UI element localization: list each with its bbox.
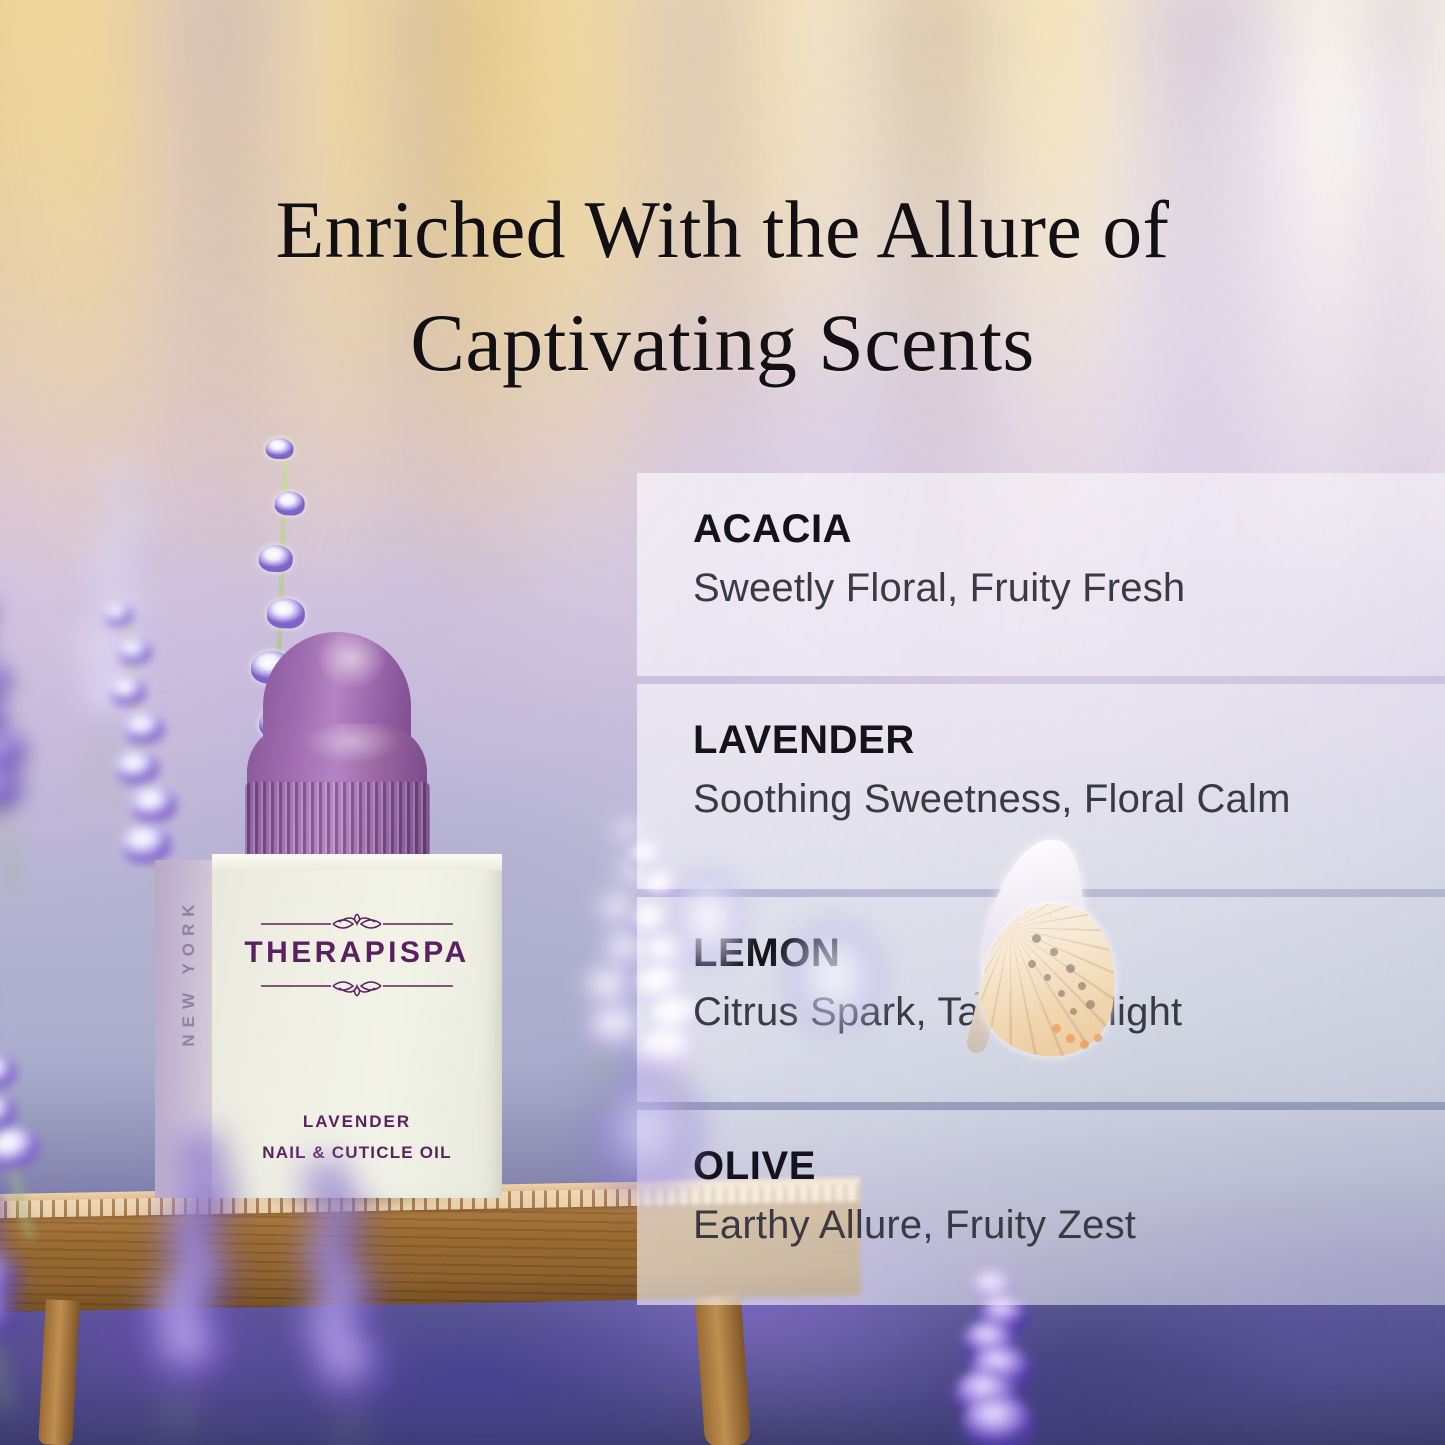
lavender-blossom <box>117 637 153 667</box>
butterfly-wing-spot <box>1050 948 1058 956</box>
scent-card-acacia: ACACIA Sweetly Floral, Fruity Fresh <box>637 473 1445 676</box>
lavender-blossom <box>114 748 161 787</box>
butterfly-wing-spot <box>1052 1024 1061 1033</box>
foreground-blossom-3 <box>560 1040 730 1240</box>
page-title: Enriched With the Allure of Captivating … <box>0 173 1445 399</box>
lavender-blossom <box>0 763 23 813</box>
scent-card-olive: OLIVE Earthy Allure, Fruity Zest <box>637 1110 1445 1305</box>
foreground-blossom-1 <box>648 858 768 1008</box>
headline-line-2: Captivating Scents <box>0 286 1445 399</box>
butterfly-wing-spot <box>1094 1034 1102 1042</box>
bottle-variant-name: LAVENDER <box>303 1112 411 1132</box>
scent-name: ACACIA <box>693 509 1445 549</box>
lavender-blossom <box>102 469 142 501</box>
lavender-blossom <box>0 1050 20 1094</box>
butterfly-wing-spot <box>1066 964 1075 973</box>
lavender-blossom <box>108 675 148 708</box>
butterfly-wing-spot <box>1070 1008 1077 1015</box>
product-bottle: NEW YORK THERAPISPA <box>155 632 530 1197</box>
lavender-blossom <box>0 1122 43 1174</box>
scent-name: OLIVE <box>693 1146 1445 1186</box>
butterfly-wing-spot <box>1058 990 1065 997</box>
butterfly-icon <box>966 838 1162 1074</box>
lavender-blossom <box>266 438 294 460</box>
dropper-cap-ribs <box>245 782 430 864</box>
bottle-brand-name: THERAPISPA <box>244 938 469 968</box>
butterfly-wing-spot <box>1044 974 1051 981</box>
lavender-sprig-icon <box>280 1157 400 1445</box>
product-lifestyle-image: NEW YORK THERAPISPA <box>0 0 1445 1445</box>
headline-line-1: Enriched With the Allure of <box>22 173 1424 286</box>
ornament-flourish-top <box>257 910 457 936</box>
butterfly-wing-spot <box>1078 982 1086 990</box>
lavender-blossom <box>302 1160 348 1197</box>
lavender-blossom <box>274 491 306 516</box>
butterfly-wing-spot <box>1032 934 1041 943</box>
foreground-blossom-2 <box>760 900 910 1070</box>
lavender-blossom <box>0 661 12 701</box>
butterfly-wing-spot <box>1028 960 1036 968</box>
butterfly-wing-spot <box>1086 1000 1095 1009</box>
bottle-origin-text: NEW YORK <box>179 872 199 1072</box>
lavender-blossom <box>258 544 294 572</box>
scent-description: Soothing Sweetness, Floral Calm <box>693 778 1445 821</box>
scent-name: LAVENDER <box>693 720 1445 760</box>
lavender-blossom <box>314 1194 366 1236</box>
ornament-flourish-bottom <box>257 976 457 1002</box>
lavender-blossom <box>102 602 134 629</box>
butterfly-wing-spot <box>1066 1034 1075 1043</box>
lavender-blossom <box>266 598 305 629</box>
lavender-blossom <box>89 550 139 591</box>
scent-description: Sweetly Floral, Fruity Fresh <box>693 567 1445 610</box>
lavender-blossom <box>107 511 152 547</box>
butterfly-wing-spot <box>1080 1040 1089 1049</box>
lavender-blossom <box>175 1129 224 1169</box>
scent-description: Earthy Allure, Fruity Zest <box>693 1204 1445 1247</box>
